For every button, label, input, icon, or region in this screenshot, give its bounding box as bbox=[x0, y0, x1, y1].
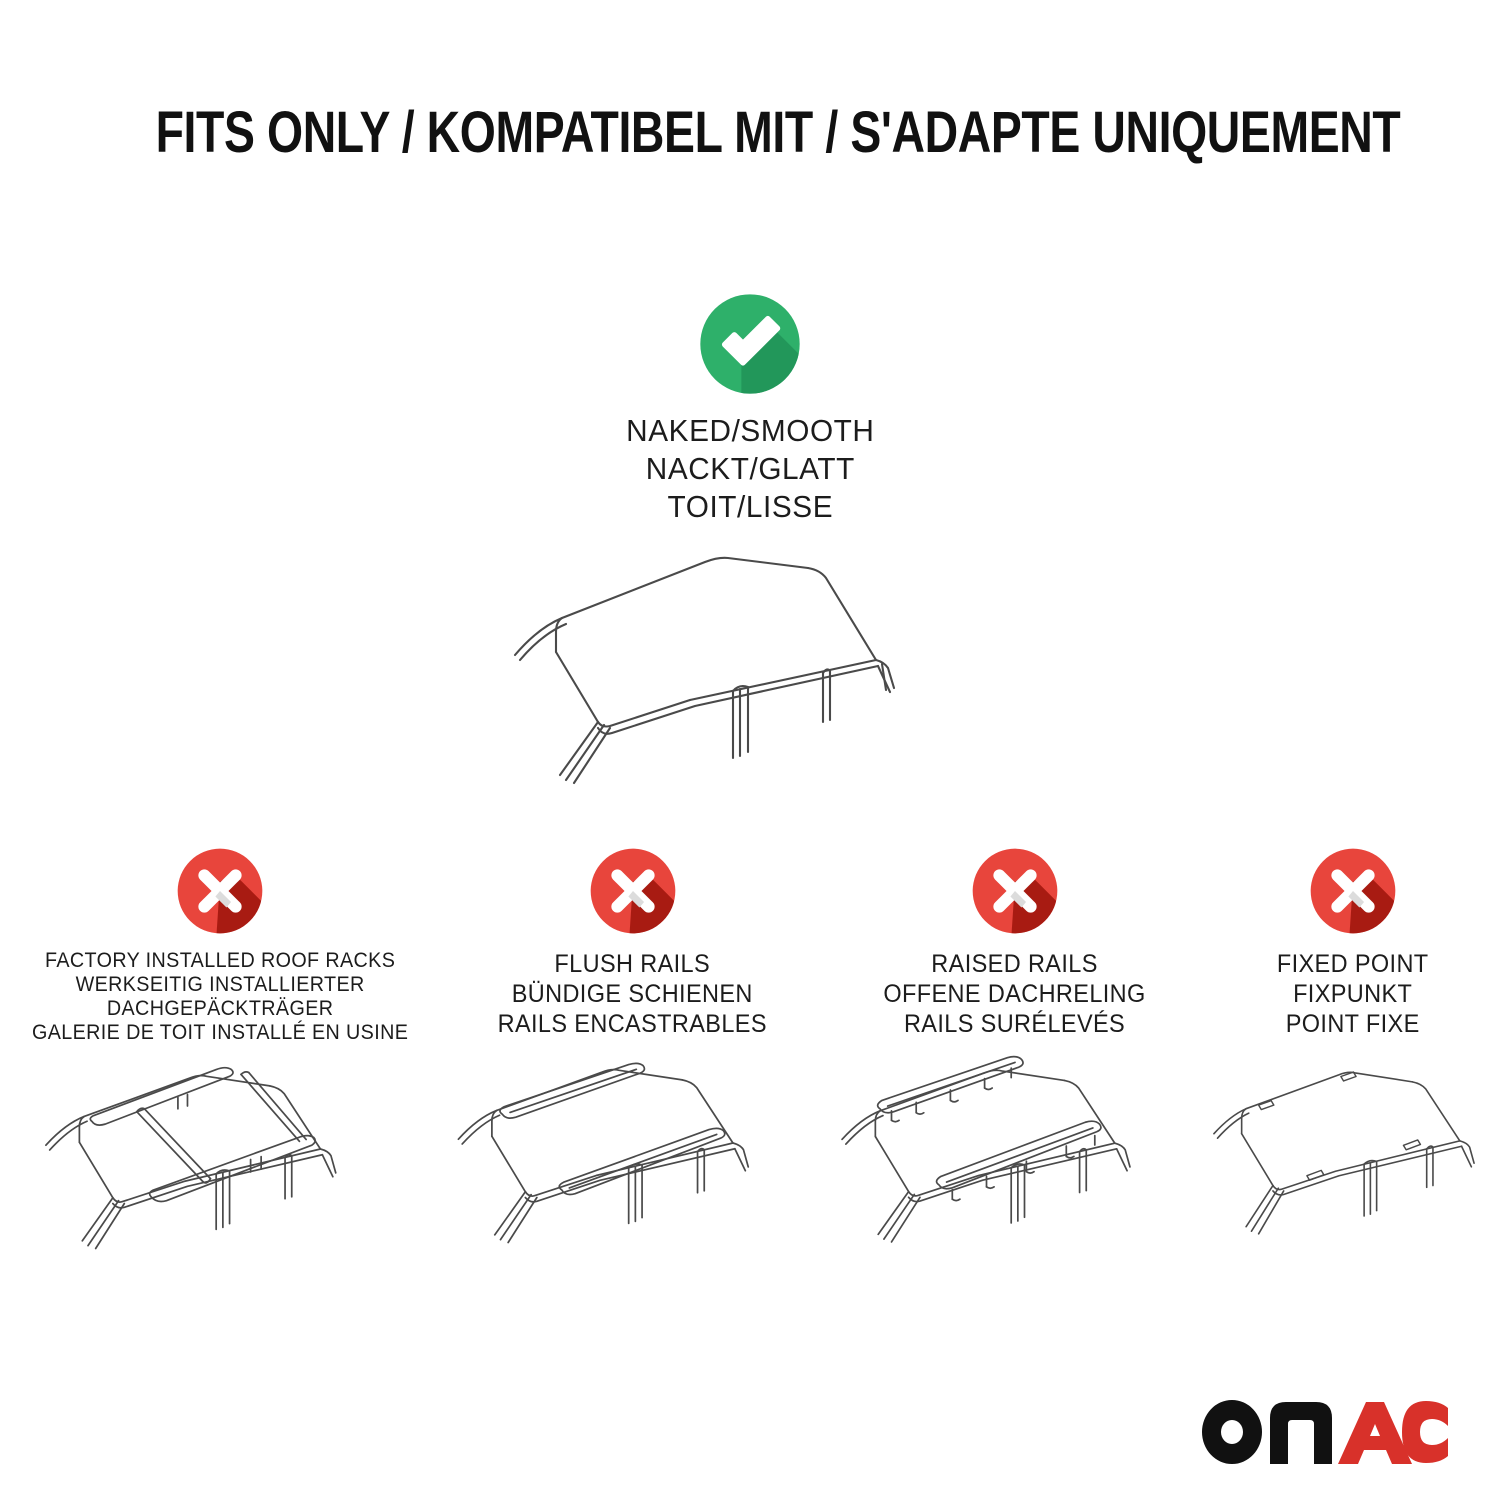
factory-roof-rack-illustration bbox=[0, 1061, 440, 1281]
label-line-1: FIXED POINT bbox=[1277, 949, 1429, 979]
label-line-2: OFFENE DACHRELING bbox=[884, 979, 1146, 1009]
incompatible-labels-flush-rails: FLUSH RAILS BÜNDIGE SCHIENEN RAILS ENCAS… bbox=[498, 949, 767, 1039]
label-line-2: BÜNDIGE SCHIENEN bbox=[498, 979, 767, 1009]
logo-letter-o bbox=[1202, 1400, 1262, 1464]
incompatible-roof-grid: FACTORY INSTALLED ROOF RACKS WERKSEITIG … bbox=[0, 845, 1500, 1281]
label-line-4: GALERIE DE TOIT INSTALLÉ EN USINE bbox=[32, 1021, 408, 1045]
incompatible-item-factory-roof-racks: FACTORY INSTALLED ROOF RACKS WERKSEITIG … bbox=[0, 845, 440, 1281]
compatible-label-fr: TOIT/LISSE bbox=[626, 488, 874, 526]
cross-circle-icon bbox=[174, 845, 266, 937]
compatible-roof-section: NAKED/SMOOTH NACKT/GLATT TOIT/LISSE bbox=[0, 290, 1500, 800]
compatible-label-de: NACKT/GLATT bbox=[626, 450, 874, 488]
incompatible-item-flush-rails: FLUSH RAILS BÜNDIGE SCHIENEN RAILS ENCAS… bbox=[440, 845, 825, 1275]
cross-circle-icon bbox=[587, 845, 679, 937]
flush-rails-illustration bbox=[440, 1055, 825, 1275]
incompatible-labels-fixed-point: FIXED POINT FIXPUNKT POINT FIXE bbox=[1277, 949, 1429, 1039]
incompatible-labels-factory-roof-racks: FACTORY INSTALLED ROOF RACKS WERKSEITIG … bbox=[32, 949, 408, 1045]
label-line-2: WERKSEITIG INSTALLIERTER bbox=[32, 973, 408, 997]
omac-logo bbox=[1198, 1396, 1448, 1468]
logo-letter-a bbox=[1338, 1402, 1412, 1464]
label-line-3: RAILS SURÉLEVÉS bbox=[884, 1009, 1146, 1039]
compatible-label-en: NAKED/SMOOTH bbox=[626, 412, 874, 450]
label-line-3: RAILS ENCASTRABLES bbox=[498, 1009, 767, 1039]
fixed-point-illustration bbox=[1205, 1055, 1500, 1275]
label-line-3: DACHGEPÄCKTRÄGER bbox=[32, 997, 408, 1021]
label-line-2: FIXPUNKT bbox=[1277, 979, 1429, 1009]
naked-smooth-roof-illustration bbox=[490, 540, 1010, 800]
label-line-1: FACTORY INSTALLED ROOF RACKS bbox=[32, 949, 408, 973]
logo-letter-m bbox=[1270, 1402, 1332, 1464]
incompatible-item-raised-rails: RAISED RAILS OFFENE DACHRELING RAILS SUR… bbox=[825, 845, 1205, 1275]
check-circle-icon bbox=[696, 290, 804, 398]
label-line-1: FLUSH RAILS bbox=[498, 949, 767, 979]
label-line-1: RAISED RAILS bbox=[884, 949, 1146, 979]
incompatible-labels-raised-rails: RAISED RAILS OFFENE DACHRELING RAILS SUR… bbox=[884, 949, 1146, 1039]
cross-circle-icon bbox=[1307, 845, 1399, 937]
incompatible-item-fixed-point: FIXED POINT FIXPUNKT POINT FIXE bbox=[1205, 845, 1500, 1275]
cross-circle-icon bbox=[969, 845, 1061, 937]
label-line-3: POINT FIXE bbox=[1277, 1009, 1429, 1039]
logo-letter-c bbox=[1402, 1401, 1448, 1463]
raised-rails-illustration bbox=[825, 1055, 1205, 1275]
omac-logo-mark bbox=[1198, 1396, 1448, 1468]
compatible-labels: NAKED/SMOOTH NACKT/GLATT TOIT/LISSE bbox=[626, 412, 874, 526]
page-title: FITS ONLY / KOMPATIBEL MIT / S'ADAPTE UN… bbox=[0, 102, 1500, 164]
page-title-text: FITS ONLY / KOMPATIBEL MIT / S'ADAPTE UN… bbox=[156, 102, 1401, 164]
